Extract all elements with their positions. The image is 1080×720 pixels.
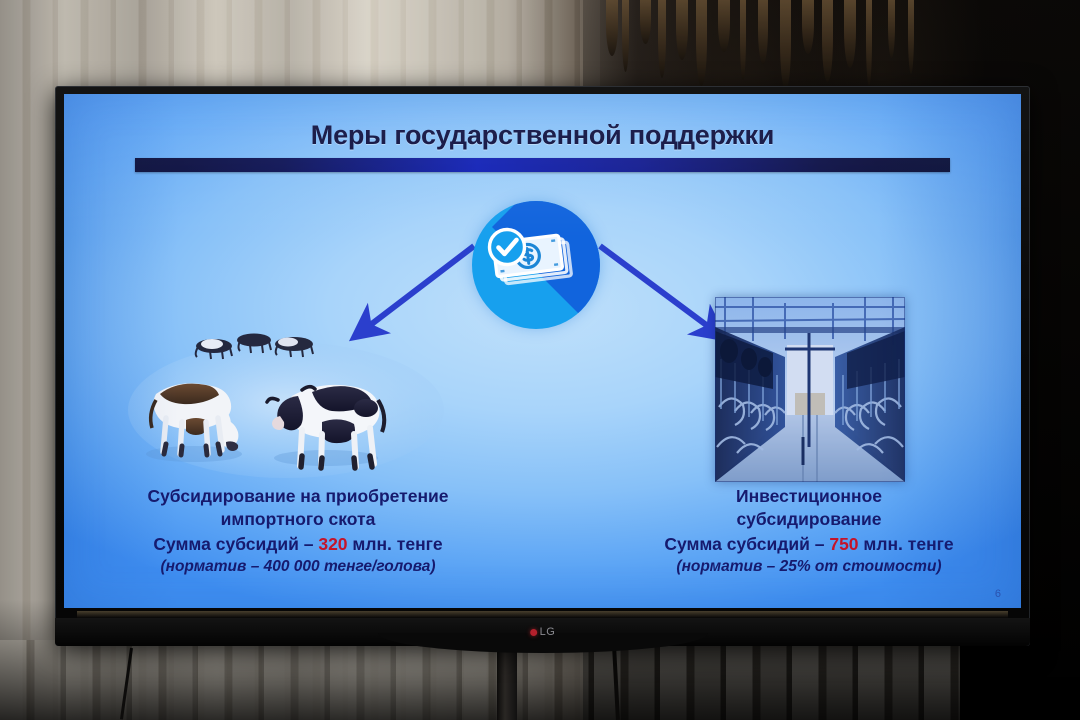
sum-prefix: Сумма субсидий – [153,534,318,554]
arrow-to-right-branch [600,246,709,327]
television: Меры государственной поддержки [55,86,1030,646]
banknote-check-glyph [472,201,600,329]
sum-amount: 320 [318,534,347,554]
tv-bottom-reflection [77,611,1008,618]
lg-brand-logo: LG [530,626,556,638]
lg-brand-text: LG [540,626,556,638]
sum-suffix: млн. тенге [859,534,954,554]
arrow-to-left-branch [369,246,474,326]
title-divider-bar [135,158,950,172]
hanging-decor-silhouettes [600,0,930,92]
presentation-slide: Меры государственной поддержки [64,94,1021,608]
caption-line-1: Субсидирование на приобретение [88,486,508,507]
slide-title: Меры государственной поддержки [64,120,1021,151]
caption-investment-subsidy: Инвестиционное субсидирование Сумма субс… [609,486,1009,577]
caption-sum-line: Сумма субсидий – 750 млн. тенге [609,534,1009,555]
caption-note: (норматив – 25% от стоимости) [609,558,1009,577]
tv-chin: LG [55,618,1030,646]
sum-suffix: млн. тенге [348,534,443,554]
caption-import-livestock: Субсидирование на приобретение импортног… [88,486,508,577]
photo-scene: Меры государственной поддержки [0,0,1080,720]
sum-amount: 750 [829,534,858,554]
caption-sum-line: Сумма субсидий – 320 млн. тенге [88,534,508,555]
photo-dairy-barn [715,297,905,482]
slide-number: 6 [995,588,1001,600]
caption-line-1: Инвестиционное [609,486,1009,507]
caption-note: (норматив – 400 000 тенге/голова) [88,558,508,577]
lg-dot-icon [530,629,537,636]
photo-cows-pasture [126,322,446,482]
caption-line-2: субсидирование [609,509,1009,530]
caption-line-2: импортного скота [88,509,508,530]
sum-prefix: Сумма субсидий – [664,534,829,554]
money-approved-icon [472,201,600,329]
